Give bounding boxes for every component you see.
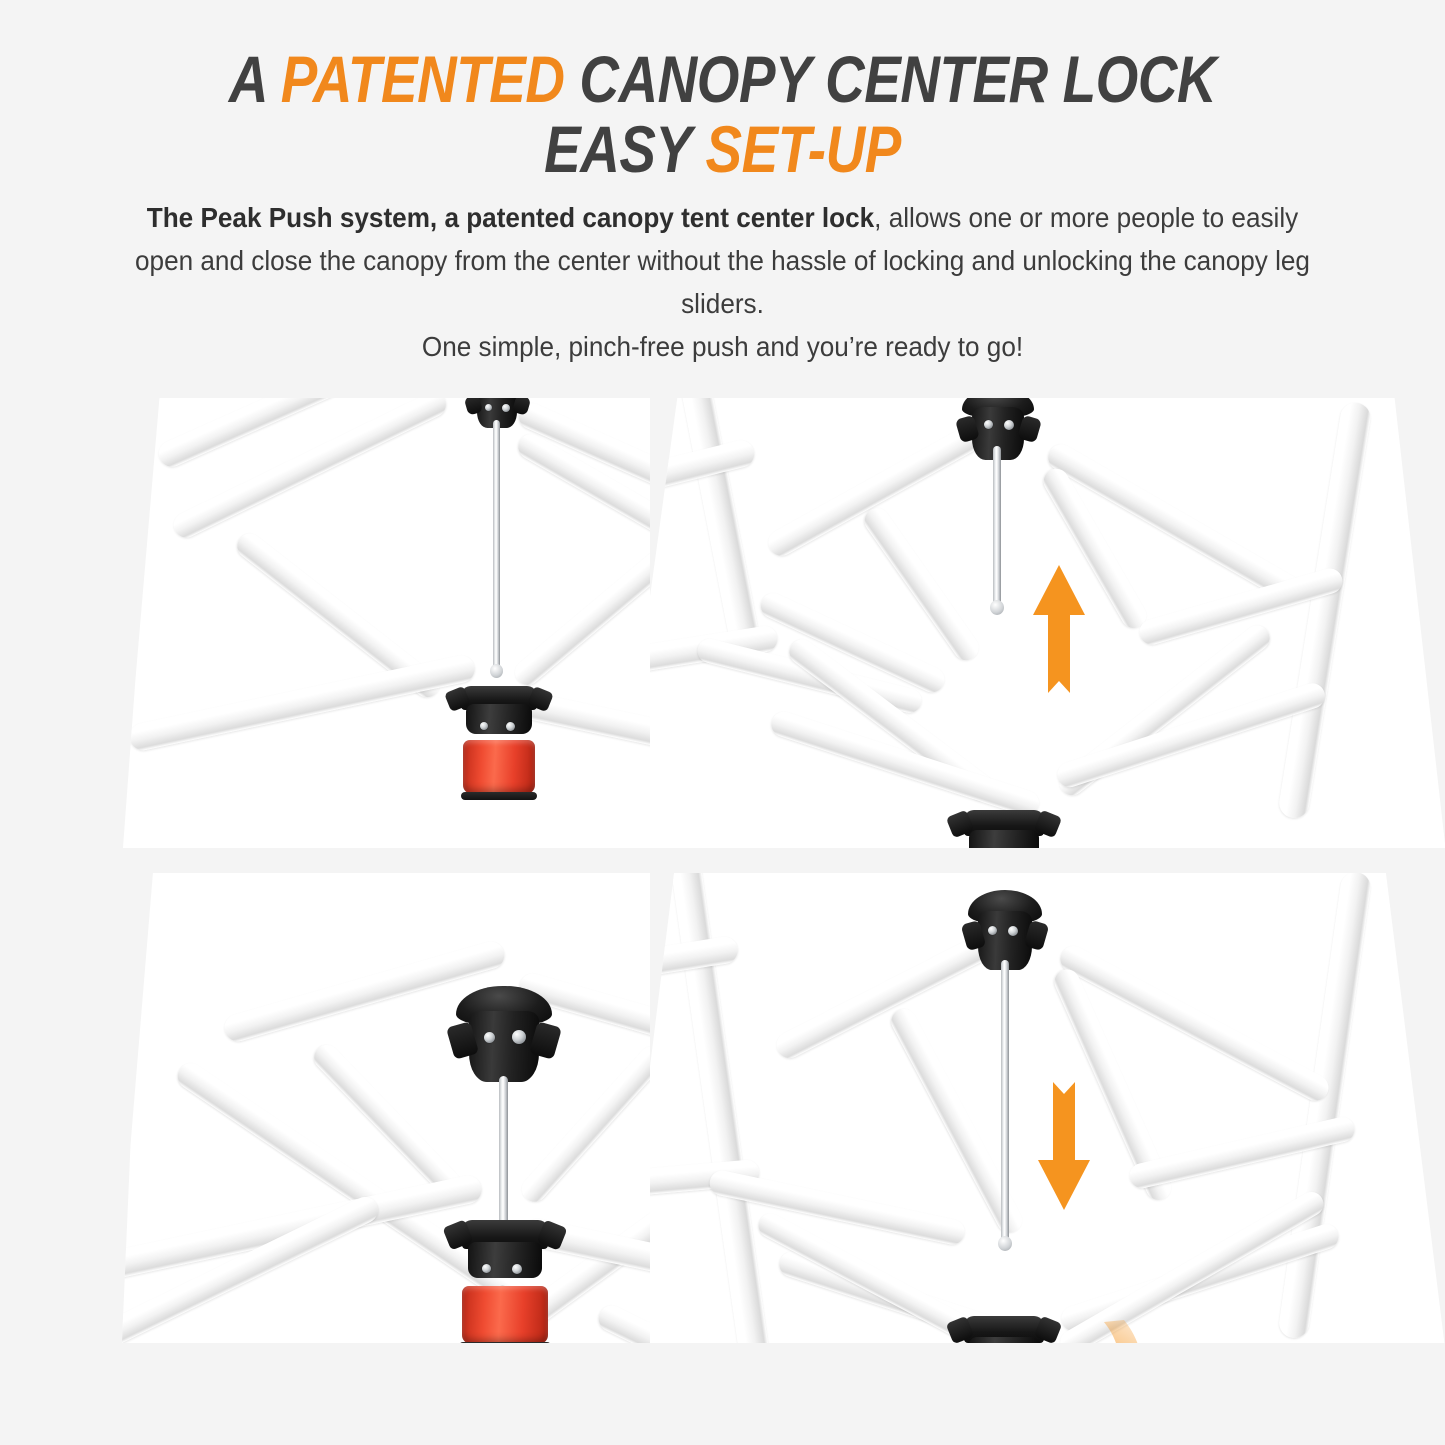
panel-1-canopy-frame-closed-view xyxy=(0,398,722,848)
center-lock-hub xyxy=(958,810,1050,848)
chrome-push-rod xyxy=(1001,960,1009,1242)
red-center-lock-collar xyxy=(462,1286,548,1343)
panel-4-photo-plate xyxy=(650,873,1445,1343)
chrome-rod-tip xyxy=(990,600,1004,615)
panel-2-photo-plate xyxy=(650,398,1445,848)
frame-tube xyxy=(127,653,477,753)
panel-4-twist-and-lower-close-step xyxy=(650,873,1445,1343)
headline-line1-part1: A xyxy=(229,42,281,116)
peak-hub xyxy=(456,986,552,1082)
panel-2-push-up-open-step xyxy=(650,398,1445,848)
headline-line1-part2: CANOPY CENTER LOCK xyxy=(565,42,1217,116)
page-title: A PATENTED CANOPY CENTER LOCK EASY SET-U… xyxy=(123,44,1322,184)
headline-line2-accent: SET-UP xyxy=(705,112,900,186)
panel-grid xyxy=(0,398,1445,1445)
chrome-push-rod xyxy=(993,446,1001,606)
chrome-rod-tip xyxy=(490,664,503,678)
red-center-lock-collar xyxy=(463,740,535,794)
chrome-rod-tip xyxy=(998,1236,1012,1251)
up-arrow-icon xyxy=(1028,563,1090,711)
panel-3-canopy-frame-locked-view xyxy=(0,873,722,1343)
description-last-line: One simple, pinch-free push and you’re r… xyxy=(422,331,1023,362)
curved-twist-arrow-icon xyxy=(928,1300,1158,1343)
frame-leg-tube xyxy=(673,398,760,645)
peak-hub xyxy=(968,890,1042,970)
description-bold-lead: The Peak Push system, a patented canopy … xyxy=(147,202,874,233)
headline-line1-accent: PATENTED xyxy=(281,42,565,116)
description-paragraph: The Peak Push system, a patented canopy … xyxy=(126,196,1318,368)
frame-tube xyxy=(170,398,451,542)
panel-1-photo-plate xyxy=(120,398,722,848)
chrome-push-rod xyxy=(499,1076,508,1226)
frame-leg-tube xyxy=(1277,873,1372,1340)
headline-line2-part1: EASY xyxy=(544,112,705,186)
frame-leg-tube xyxy=(1277,401,1372,821)
down-arrow-icon xyxy=(1034,1060,1094,1212)
frame-tube xyxy=(74,1193,382,1343)
panel-3-photo-plate xyxy=(120,873,722,1343)
chrome-push-rod xyxy=(493,420,500,670)
